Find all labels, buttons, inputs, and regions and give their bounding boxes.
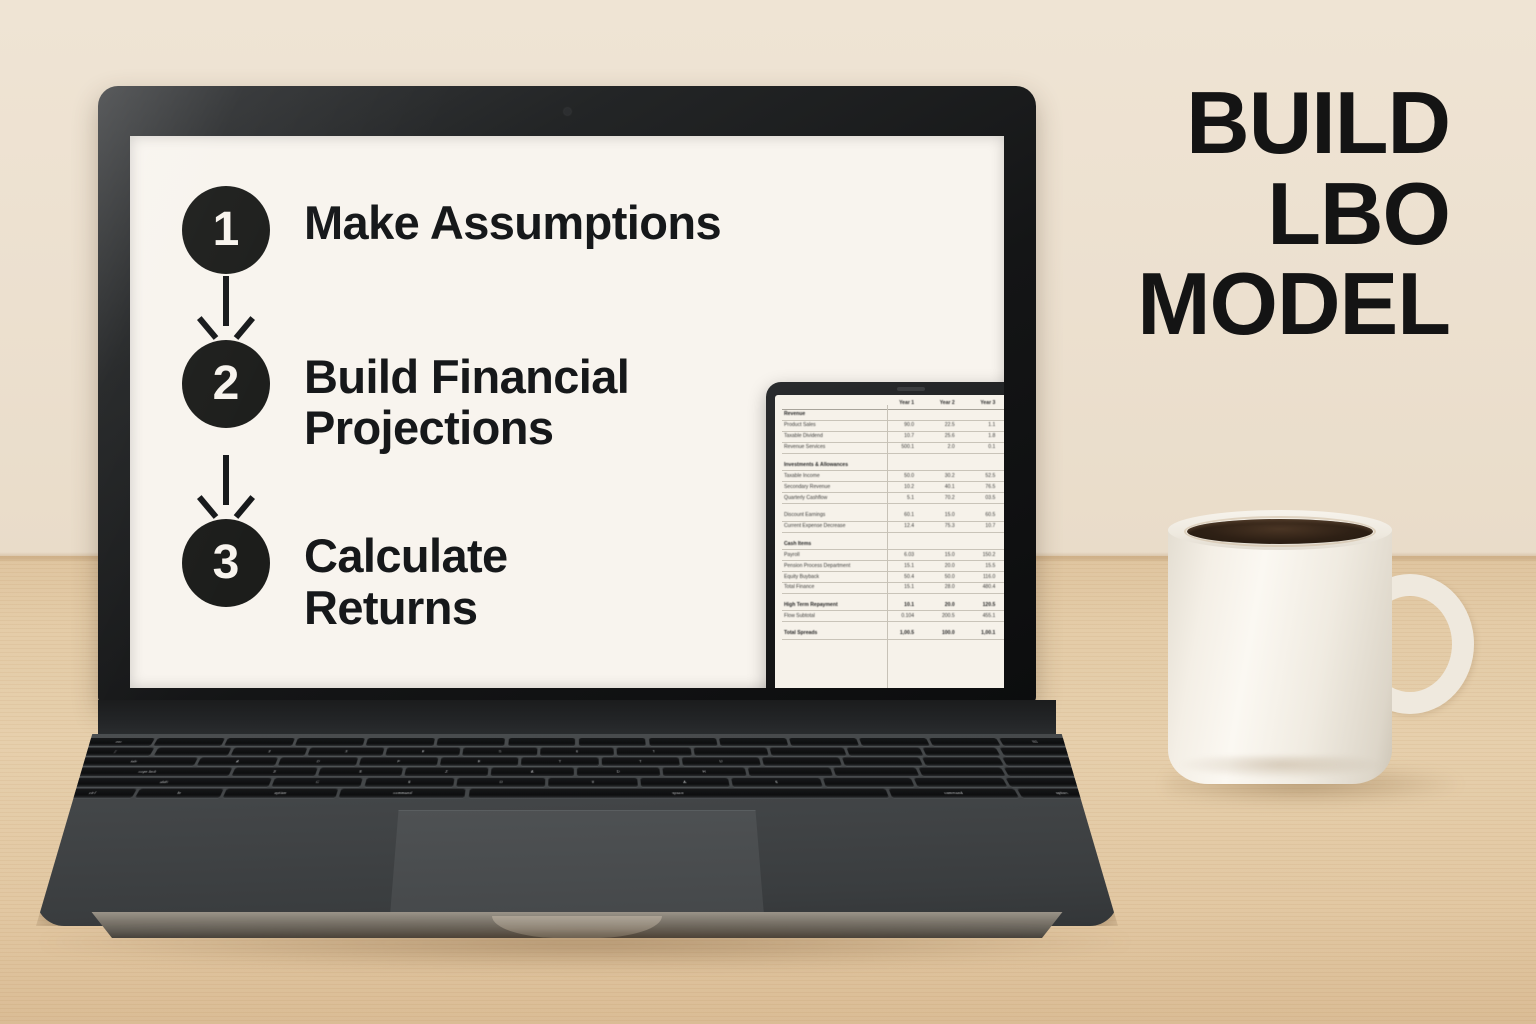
table-row: Taxable Income50.030.252.565.5 [782,471,1004,481]
scene-root: BUILD LBO MODEL 1 Make Assumptions [0,0,1536,1024]
laptop-shadow [40,930,1130,970]
row-spacer [782,594,1004,601]
mug-body [1168,522,1392,784]
cell-value: 20.0 [918,601,959,611]
key[interactable]: ctrl [47,789,136,798]
key[interactable]: esc [83,738,155,746]
key[interactable]: A [197,758,278,766]
key[interactable]: O [278,758,358,766]
cell-value: 50.0 [918,572,959,582]
key[interactable]: K [732,778,823,786]
key[interactable]: O [456,778,545,786]
key[interactable]: X [231,768,317,776]
cell-value: 10.1 [999,572,1004,582]
cell-value: 10.7 [877,431,918,441]
cell-label: Total Spreads [782,629,877,639]
cell-value: 0.12 [999,511,1004,521]
table-row: Quarterly Cashflow5.170.203.535.5 [782,493,1004,503]
cell-value: 200.0 [999,611,1004,621]
table-row: Discount Earnings60.115.060.50.12 [782,511,1004,521]
key[interactable]: | [76,748,155,756]
key[interactable] [762,758,842,766]
key[interactable]: 3 [308,748,384,756]
key[interactable] [833,768,919,776]
table-row: Flow Subtotal0.104200.5455.1200.0 [782,611,1004,621]
key[interactable]: S [364,778,454,786]
cell-value: 18.5 [999,442,1004,452]
table-row: Secondary Revenue10.240.176.525.5 [782,482,1004,492]
panel-notch [897,387,925,391]
key[interactable]: A [640,778,730,786]
key[interactable] [579,738,647,746]
cell-value [918,539,959,549]
key[interactable]: Z [404,768,488,776]
cell-value [918,409,959,419]
table-row: Taxable Dividend10.725.61.81.5 [782,431,1004,441]
cell-value: 10.2 [999,561,1004,571]
cell-value: 1.5 [999,431,1004,441]
key[interactable]: option [1018,789,1107,798]
cell-value [999,539,1004,549]
key[interactable]: D [577,768,660,776]
cell-value: 12.4 [877,521,918,531]
cell-value: 10.2 [877,482,918,492]
key[interactable] [154,738,225,746]
step-2-number-badge: 2 [182,340,270,428]
cell-value: 150.2 [959,550,1000,560]
cell-value: 1,00.5 [877,629,918,639]
cell-value: 40.1 [918,482,959,492]
coffee-inner-rim [1184,516,1376,547]
cell-value: 210.1 [999,550,1004,560]
table-row: Current Expense Decrease12.475.310.70.01 [782,521,1004,531]
key[interactable] [1005,778,1099,786]
cell-value: 50.0 [877,471,918,481]
cell-label [782,399,877,409]
cell-value: 10.7 [959,521,1000,531]
laptop-base: escG1|33E567tabAOFETTUcaps lockXSZADHshi… [36,700,1118,952]
key[interactable]: S [318,768,403,776]
key[interactable] [719,738,788,746]
key[interactable]: E [440,758,518,766]
key[interactable] [508,738,576,746]
cell-value [918,460,959,470]
cell-value: 25.6 [918,431,959,441]
row-spacer [782,622,1004,629]
cell-value: 1.1 [959,420,1000,430]
key[interactable]: fn [135,789,223,798]
key[interactable]: space [468,789,889,798]
cell-label: High Term Repayment [782,601,877,611]
cell-value: 1,00.1 [959,629,1000,639]
keyboard[interactable]: escG1|33E567tabAOFETTUcaps lockXSZADHshi… [47,738,1107,798]
key[interactable]: C [272,778,363,786]
cell-label: Flow Subtotal [782,611,877,621]
key[interactable] [999,748,1078,756]
keyboard-row[interactable]: shiftCSOVAK [55,778,1099,786]
cell-value: 76.5 [959,482,1000,492]
cell-value: 25.5 [999,482,1004,492]
key[interactable] [1003,758,1085,766]
key[interactable] [929,738,1000,746]
key[interactable] [295,738,365,746]
key[interactable]: F [359,758,438,766]
key[interactable] [693,748,768,756]
table-row: Equity Buyback50.450.0116.010.1 [782,572,1004,582]
cell-value: 5.1 [877,493,918,503]
cell-value: Year 4 [999,399,1004,409]
cell-value: 15.0 [918,550,959,560]
cell-value: 0.104 [877,611,918,621]
cell-value: 2.0 [999,420,1004,430]
cell-value: 22.5 [918,420,959,430]
cell-value: 28.0 [918,583,959,593]
key[interactable] [823,778,915,786]
keyboard-row[interactable]: |33E567 [76,748,1078,756]
cell-value: Year 2 [918,399,959,409]
key[interactable] [748,768,833,776]
steps-list: 1 Make Assumptions 2 Build Financial Pro… [182,186,742,633]
table-row: Total Spreads1,00.5100.01,00.12,04.1 [782,629,1004,639]
laptop-lid: 1 Make Assumptions 2 Build Financial Pro… [98,86,1036,704]
cell-value: 1.8 [959,431,1000,441]
spreadsheet-surface[interactable]: Year 1Year 2Year 3Year 4RevenueProduct S… [775,395,1004,688]
table-row: Investments & Allowances [782,460,1004,470]
key[interactable]: 3 [231,748,308,756]
key[interactable] [919,768,1006,776]
key[interactable] [846,748,923,756]
cell-value: 116.0 [959,572,1000,582]
row-rule [782,639,1004,640]
table-row: Cash Items [782,539,1004,549]
cell-value: 60.1 [877,511,918,521]
cell-label: Revenue [782,409,877,419]
keyboard-row[interactable]: escG1 [83,738,1071,746]
mug-base-shading [1180,756,1380,778]
cell-label: Total Finance [782,583,877,593]
key[interactable]: E [385,748,460,756]
spreadsheet-panel[interactable]: Year 1Year 2Year 3Year 4RevenueProduct S… [766,382,1004,688]
key[interactable] [789,738,859,746]
table-row: Payroll6.0315.0150.2210.1 [782,550,1004,560]
key[interactable]: command [338,789,466,798]
table-row: Revenue [782,409,1004,419]
cell-value [877,409,918,419]
cell-value: Year 3 [959,399,1000,409]
cell-label: Pension Process Department [782,561,877,571]
key[interactable] [437,738,505,746]
cell-label: Secondary Revenue [782,482,877,492]
cell-value [999,409,1004,419]
table-row: Total Finance15.128.0480.42.04 [782,583,1004,593]
laptop: 1 Make Assumptions 2 Build Financial Pro… [0,0,1180,990]
step-3: 3 Calculate Returns [182,519,742,632]
key[interactable]: 6 [540,748,614,756]
table-row: Revenue Services500.12.00.118.5 [782,442,1004,452]
cell-value [959,460,1000,470]
cell-value [959,539,1000,549]
down-arrow-icon-2 [182,453,270,519]
cell-label: Investments & Allowances [782,460,877,470]
cell-value: 65.5 [999,471,1004,481]
cell-value: 10.1 [877,601,918,611]
key[interactable]: shift [55,778,272,786]
cell-value: 50.4 [877,572,918,582]
key[interactable] [225,738,296,746]
cell-value [999,460,1004,470]
cell-value: 75.3 [918,521,959,531]
cell-value: 2,04.1 [999,629,1004,639]
cell-value: 455.1 [959,611,1000,621]
cell-value: 6.03 [877,550,918,560]
cell-value: 100.0 [918,629,959,639]
cell-value [877,460,918,470]
cell-value: 15.1 [877,583,918,593]
step-1-label: Make Assumptions [304,186,721,248]
cell-value: 35.5 [999,493,1004,503]
table-header-row: Year 1Year 2Year 3Year 4 [782,399,1004,409]
cell-value: 500.1 [877,442,918,452]
key[interactable] [923,748,1001,756]
keyboard-row[interactable]: caps lockXSZADH [62,768,1092,776]
cell-value: 52.5 [959,471,1000,481]
key[interactable]: command [889,789,1019,798]
cell-value: 0.1 [959,442,1000,452]
cell-value: 70.2 [918,493,959,503]
laptop-deck: escG1|33E567tabAOFETTUcaps lockXSZADHshi… [36,734,1118,926]
coffee-mug [1160,500,1510,820]
key[interactable]: option [223,789,338,798]
step-1-number-badge: 1 [182,186,270,274]
key[interactable]: tab [69,758,197,766]
row-spacer [782,504,1004,511]
key[interactable] [922,758,1003,766]
key[interactable] [366,738,435,746]
key[interactable]: U [682,758,761,766]
step-1: 1 Make Assumptions [182,186,742,274]
cell-value: 90.0 [877,420,918,430]
down-arrow-icon-1 [182,274,270,340]
cell-value: 30.2 [918,471,959,481]
key[interactable]: V [549,778,638,786]
key[interactable] [1004,768,1092,776]
cell-label: Equity Buyback [782,572,877,582]
cell-value: 100.2 [999,601,1004,611]
key[interactable]: A [491,768,574,776]
cell-label: Discount Earnings [782,511,877,521]
key[interactable] [859,738,930,746]
cell-label: Product Sales [782,420,877,430]
key[interactable]: H [662,768,746,776]
cell-value: 15.1 [877,561,918,571]
cell-value: Year 1 [877,399,918,409]
row-spacer [782,532,1004,539]
cell-value [959,409,1000,419]
cell-value [877,539,918,549]
cell-label: Taxable Dividend [782,431,877,441]
step-3-label: Calculate Returns [304,519,508,632]
keyboard-row[interactable]: tabAOFETTU [69,758,1085,766]
cell-label: Cash Items [782,539,877,549]
cell-value: 120.5 [959,601,1000,611]
cell-label: Payroll [782,550,877,560]
laptop-screen[interactable]: 1 Make Assumptions 2 Build Financial Pro… [130,136,1004,688]
cell-value: 200.5 [918,611,959,621]
key[interactable] [842,758,923,766]
keyboard-row[interactable]: ctrlfnoptioncommandspacecommandoption [47,789,1107,798]
cell-label: Quarterly Cashflow [782,493,877,503]
key[interactable] [649,738,717,746]
table-row: High Term Repayment10.120.0120.5100.2 [782,601,1004,611]
cell-value: 60.5 [959,511,1000,521]
cell-value: 2.04 [999,583,1004,593]
cell-label: Revenue Services [782,442,877,452]
key[interactable]: 5 [463,748,537,756]
key[interactable]: T [602,758,680,766]
key[interactable]: G1 [999,738,1071,746]
cell-label: Taxable Income [782,471,877,481]
key[interactable]: T [521,758,599,766]
cell-value: 480.4 [959,583,1000,593]
cell-value: 15.5 [959,561,1000,571]
key[interactable]: caps lock [62,768,232,776]
cell-value: 2.0 [918,442,959,452]
cell-value: 20.0 [918,561,959,571]
step-2-label: Build Financial Projections [304,340,629,453]
step-3-number-badge: 3 [182,519,270,607]
webcam-icon [564,108,571,115]
step-2: 2 Build Financial Projections [182,340,742,453]
cell-value: 15.0 [918,511,959,521]
key[interactable] [770,748,846,756]
table-row: Product Sales90.022.51.12.0 [782,420,1004,430]
cell-value: 03.5 [959,493,1000,503]
cell-label: Current Expense Decrease [782,521,877,531]
key[interactable] [914,778,1007,786]
row-spacer [782,453,1004,460]
key[interactable]: 7 [617,748,691,756]
financial-model-table: Year 1Year 2Year 3Year 4RevenueProduct S… [782,399,1004,640]
table-row: Pension Process Department15.120.015.510… [782,561,1004,571]
cell-value: 0.01 [999,521,1004,531]
key[interactable] [153,748,231,756]
